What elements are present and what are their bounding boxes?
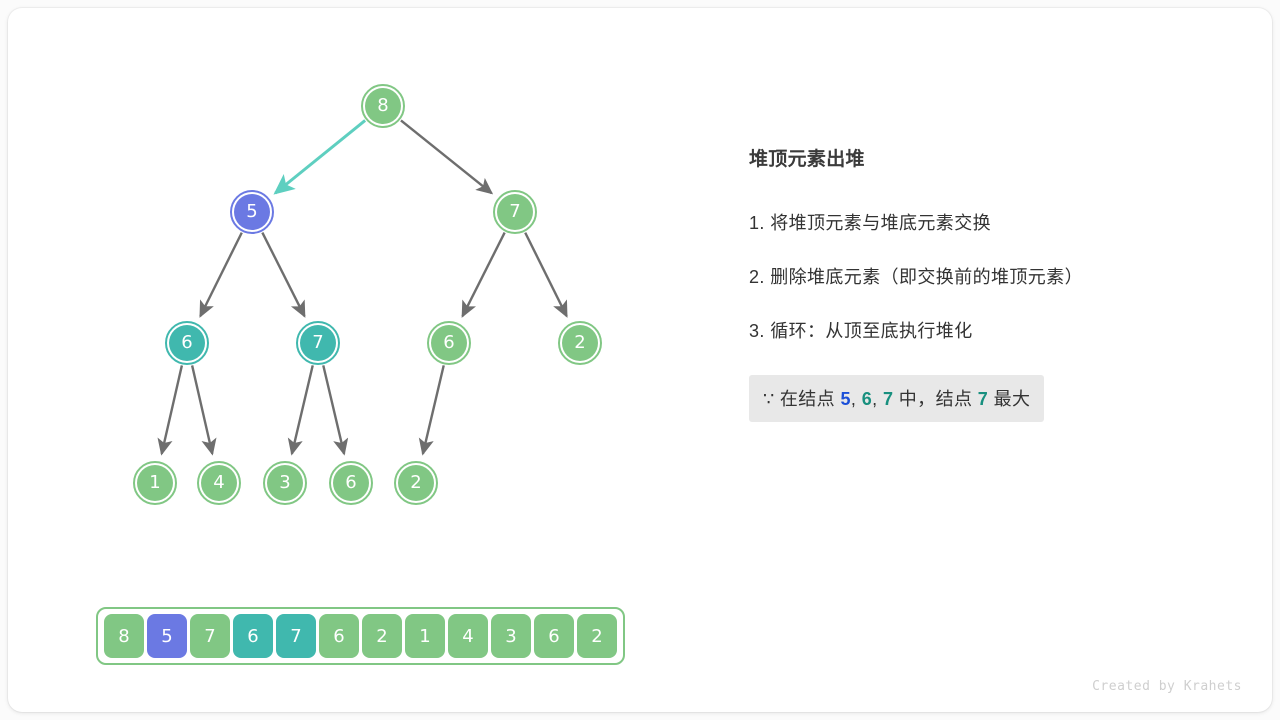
array-cell-6: 2: [362, 614, 402, 658]
screenshot-root: 857676214362 857676214362 堆顶元素出堆 1. 将堆顶元…: [0, 0, 1280, 720]
explanation-panel: 堆顶元素出堆 1. 将堆顶元素与堆底元素交换2. 删除堆底元素（即交换前的堆顶元…: [749, 144, 1219, 422]
array-cell-8: 4: [448, 614, 488, 658]
tree-node-3: 6: [165, 321, 209, 365]
tree-node-6: 2: [558, 321, 602, 365]
tree-node-11: 2: [394, 461, 438, 505]
array-cell-5: 6: [319, 614, 359, 658]
tree-edge: [162, 365, 182, 453]
tree-edge: [462, 233, 504, 317]
array-cell-10: 6: [534, 614, 574, 658]
conclusion-sep-2: ,: [872, 389, 877, 409]
array-cell-2: 7: [190, 614, 230, 658]
array-cell-0: 8: [104, 614, 144, 658]
tree-node-label: 7: [497, 194, 533, 230]
conclusion-value-2: 6: [862, 389, 872, 409]
tree-edge: [525, 233, 566, 317]
tree-edge: [262, 233, 304, 317]
panel-title: 堆顶元素出堆: [749, 144, 1219, 171]
tree-edge: [401, 120, 492, 193]
step-item-1: 1. 将堆顶元素与堆底元素交换: [749, 209, 1219, 235]
tree-edge-highlighted: [275, 120, 365, 193]
conclusion-badge: ∵ 在结点 5, 6, 7 中，结点 7 最大: [749, 375, 1044, 422]
tree-node-2: 7: [493, 190, 537, 234]
tree-node-0: 8: [361, 84, 405, 128]
tree-edge: [323, 365, 344, 453]
tree-node-label: 7: [300, 325, 336, 361]
tree-node-label: 3: [267, 465, 303, 501]
tree-node-label: 1: [137, 465, 173, 501]
tree-node-10: 6: [329, 461, 373, 505]
tree-edge: [423, 365, 444, 453]
tree-edge: [192, 365, 212, 453]
tree-node-label: 8: [365, 88, 401, 124]
tree-node-7: 1: [133, 461, 177, 505]
conclusion-text-1: 在结点: [780, 389, 835, 409]
credit-footer: Created by Krahets: [1092, 679, 1242, 694]
binary-heap-tree-diagram: 857676214362: [8, 8, 708, 568]
tree-node-5: 6: [427, 321, 471, 365]
tree-node-label: 6: [333, 465, 369, 501]
tree-node-label: 6: [431, 325, 467, 361]
array-cell-1: 5: [147, 614, 187, 658]
step-list: 1. 将堆顶元素与堆底元素交换2. 删除堆底元素（即交换前的堆顶元素）3. 循环…: [749, 209, 1219, 343]
conclusion-value-1: 5: [840, 389, 850, 409]
conclusion-text-2: 中，结点: [899, 389, 973, 409]
tree-node-1: 5: [230, 190, 274, 234]
array-cell-7: 1: [405, 614, 445, 658]
conclusion-sep-1: ,: [851, 389, 856, 409]
tree-node-label: 2: [398, 465, 434, 501]
array-cell-4: 7: [276, 614, 316, 658]
tree-node-label: 5: [234, 194, 270, 230]
conclusion-value-3: 7: [883, 389, 893, 409]
array-cell-9: 3: [491, 614, 531, 658]
heap-array-representation: 857676214362: [96, 607, 625, 665]
array-cell-3: 6: [233, 614, 273, 658]
tree-node-9: 3: [263, 461, 307, 505]
content-card: 857676214362 857676214362 堆顶元素出堆 1. 将堆顶元…: [8, 8, 1272, 712]
tree-node-label: 2: [562, 325, 598, 361]
tree-edge: [292, 365, 313, 453]
tree-node-label: 4: [201, 465, 237, 501]
tree-node-8: 4: [197, 461, 241, 505]
conclusion-value-4: 7: [978, 389, 988, 409]
conclusion-text-3: 最大: [994, 389, 1031, 409]
because-symbol: ∵: [763, 389, 774, 409]
tree-node-4: 7: [296, 321, 340, 365]
tree-node-label: 6: [169, 325, 205, 361]
array-cell-11: 2: [577, 614, 617, 658]
tree-edge: [200, 233, 241, 317]
step-item-2: 2. 删除堆底元素（即交换前的堆顶元素）: [749, 263, 1219, 289]
step-item-3: 3. 循环：从顶至底执行堆化: [749, 317, 1219, 343]
